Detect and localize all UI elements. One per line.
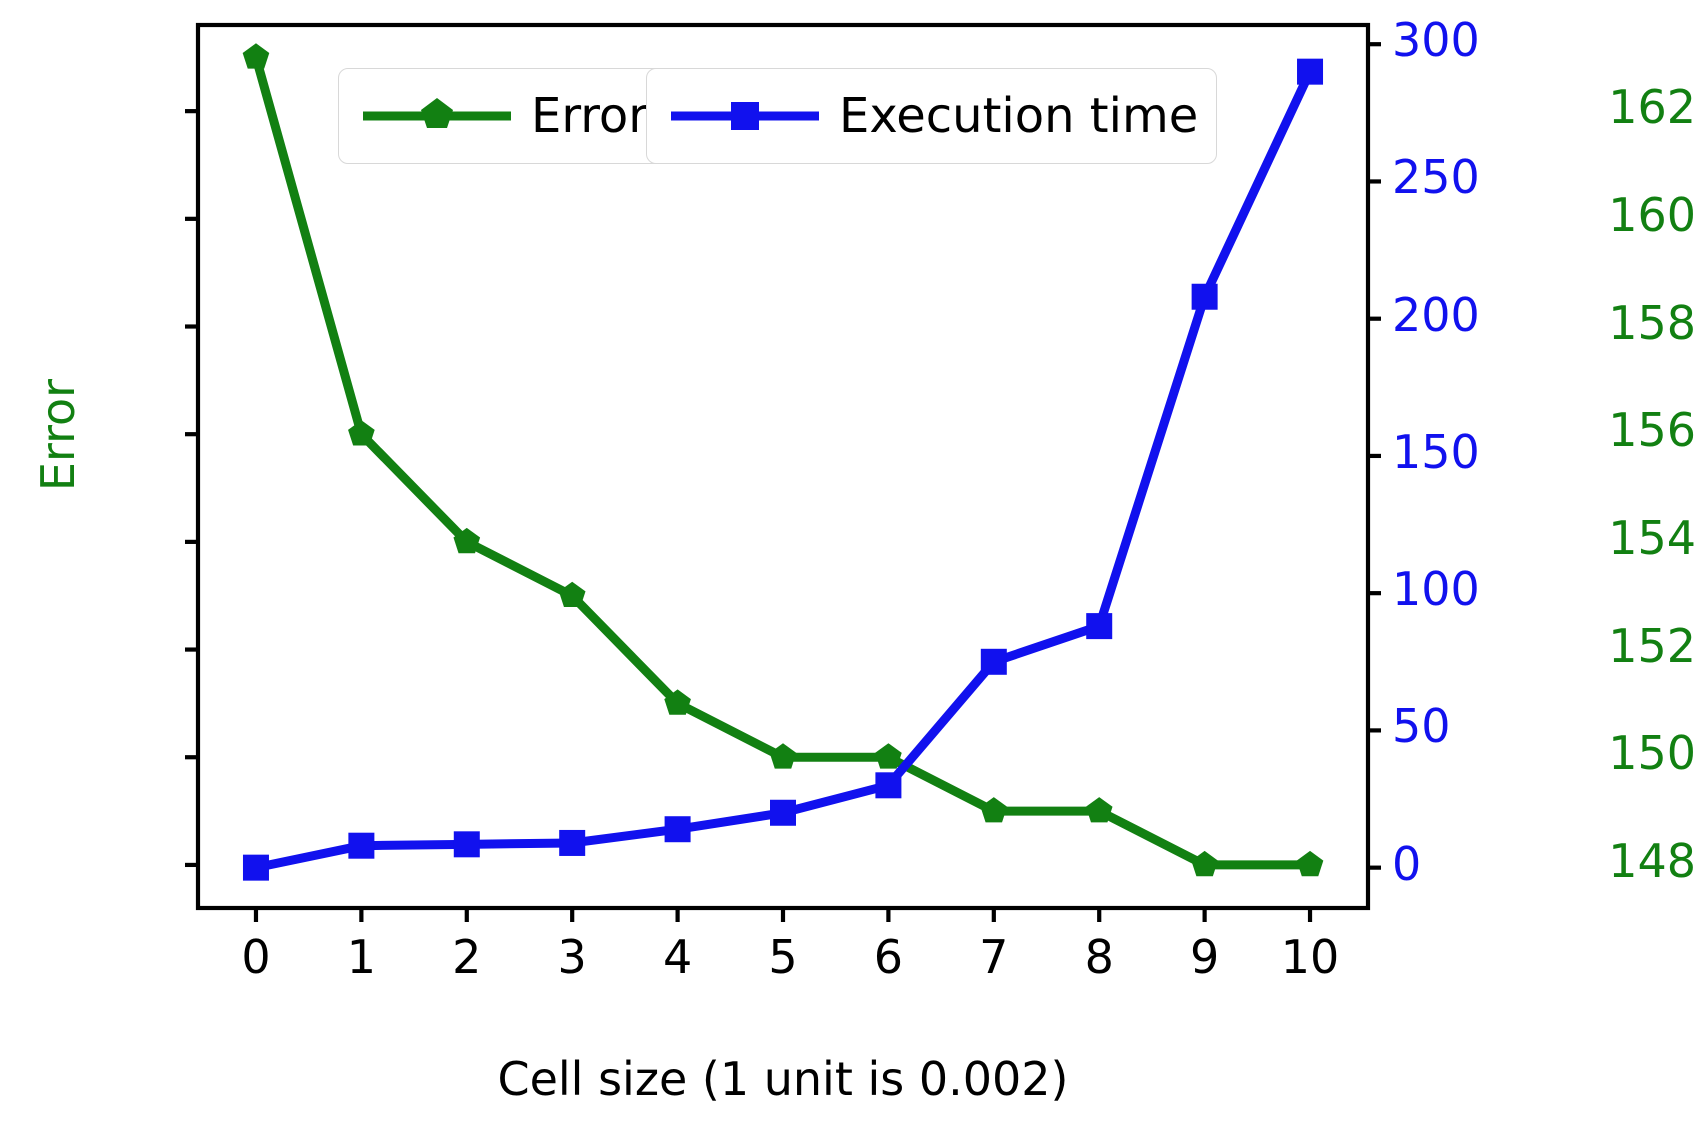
y-tick-label-left: 158 — [1522, 296, 1696, 350]
x-tick-label: 0 — [206, 930, 306, 984]
y-tick-label-right: 150 — [1392, 425, 1480, 479]
legend-label-error: Error — [531, 88, 648, 144]
legend-item-error[interactable]: Error — [338, 68, 667, 164]
y-tick-label-left: 160 — [1522, 188, 1696, 242]
y-tick-label-left: 154 — [1522, 511, 1696, 565]
data-point-execution-time — [665, 816, 691, 842]
data-point-error — [348, 420, 375, 445]
x-tick-label: 3 — [522, 930, 622, 984]
y-tick-label-left: 152 — [1522, 619, 1696, 673]
data-point-execution-time — [454, 831, 480, 857]
data-point-execution-time — [770, 800, 796, 826]
y-tick-label-right: 200 — [1392, 288, 1480, 342]
data-point-error — [559, 582, 586, 607]
data-point-execution-time — [559, 830, 585, 856]
x-tick-label: 7 — [944, 930, 1044, 984]
data-point-execution-time — [1297, 59, 1323, 85]
data-point-error — [243, 43, 270, 68]
data-point-execution-time — [348, 833, 374, 859]
chart-figure: Error Execution time (s) Cell size (1 un… — [0, 0, 1696, 1139]
data-point-error — [875, 743, 902, 768]
y-tick-label-right: 100 — [1392, 562, 1480, 616]
data-point-execution-time — [1086, 613, 1112, 639]
y-tick-label-left: 156 — [1522, 403, 1696, 457]
x-tick-label: 4 — [628, 930, 728, 984]
legend-swatch-error — [357, 94, 517, 138]
x-tick-label: 8 — [1049, 930, 1149, 984]
data-point-execution-time — [981, 649, 1007, 675]
legend-label-execution-time: Execution time — [839, 88, 1198, 144]
data-point-execution-time — [243, 855, 269, 881]
y-tick-label-left: 162 — [1522, 80, 1696, 134]
y-tick-label-left: 150 — [1522, 726, 1696, 780]
data-point-execution-time — [875, 772, 901, 798]
y-tick-label-right: 250 — [1392, 150, 1480, 204]
legend-item-execution-time[interactable]: Execution time — [646, 68, 1217, 164]
data-point-error — [770, 743, 797, 768]
y-axis-left-label: Error — [31, 325, 85, 545]
x-axis-label: Cell size (1 unit is 0.002) — [198, 1052, 1368, 1106]
y-tick-label-right: 300 — [1392, 13, 1480, 67]
x-tick-label: 1 — [311, 930, 411, 984]
y-tick-label-right: 0 — [1392, 837, 1421, 891]
legend-swatch-execution-time — [665, 94, 825, 138]
y-tick-label-right: 50 — [1392, 699, 1451, 753]
x-tick-label: 5 — [733, 930, 833, 984]
data-point-error — [1191, 851, 1218, 876]
x-tick-label: 9 — [1155, 930, 1255, 984]
data-point-error — [1086, 797, 1113, 822]
data-point-execution-time — [1192, 284, 1218, 310]
x-tick-label: 6 — [838, 930, 938, 984]
data-point-error — [981, 797, 1008, 822]
x-tick-label: 10 — [1260, 930, 1360, 984]
x-tick-label: 2 — [417, 930, 517, 984]
y-tick-label-left: 148 — [1522, 834, 1696, 888]
data-point-error — [1297, 851, 1324, 876]
